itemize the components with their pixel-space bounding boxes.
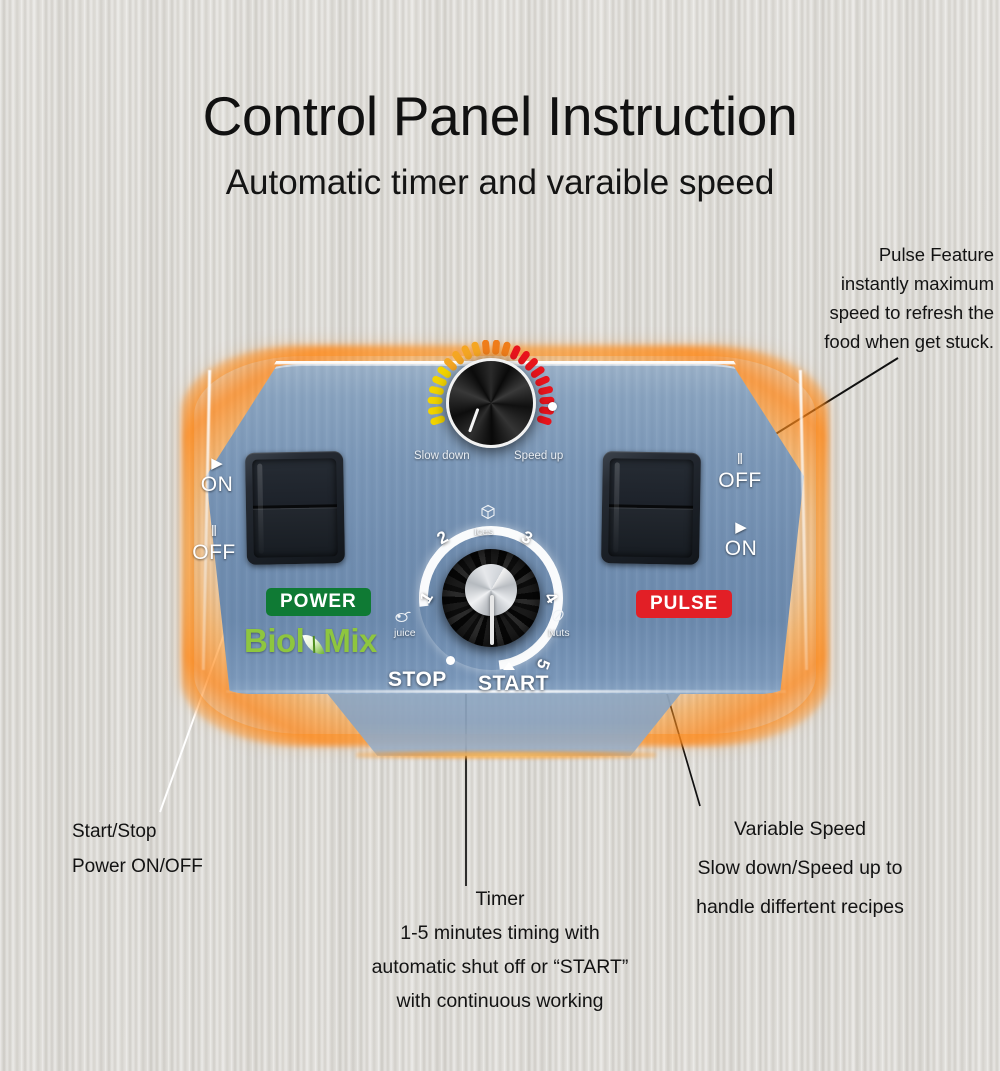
switch-label-text: OFF bbox=[708, 470, 772, 491]
speed-arc-tick bbox=[434, 419, 442, 421]
speed-arc-tick bbox=[441, 370, 448, 375]
speed-arc-tick bbox=[529, 362, 535, 368]
switch-label-left-on: ▶ ON bbox=[188, 456, 246, 495]
play-icon: ▶ bbox=[712, 520, 770, 535]
power-badge: POWER bbox=[266, 588, 371, 616]
pulse-rocker-switch[interactable] bbox=[601, 451, 701, 565]
juicer-icon bbox=[394, 608, 412, 629]
callout-heading: Variable Speed bbox=[734, 818, 866, 840]
speed-arc-tick bbox=[436, 379, 443, 382]
knob-pointer bbox=[468, 408, 479, 433]
timer-icon-label-nuts: Nuts bbox=[548, 627, 570, 639]
callout-line: Pulse Feature bbox=[776, 240, 994, 269]
rocker-paddle[interactable] bbox=[252, 458, 338, 557]
variable-speed-dial[interactable]: Slow down Speed up bbox=[406, 340, 574, 480]
speed-arc-tick bbox=[486, 343, 487, 351]
switch-label-text: OFF bbox=[182, 542, 246, 563]
speed-arc-tick bbox=[539, 379, 546, 382]
brand-suffix: Mix bbox=[323, 622, 377, 659]
switch-label-text: ON bbox=[188, 474, 246, 495]
play-icon: ▶ bbox=[188, 456, 246, 471]
speed-arc-tick bbox=[432, 410, 440, 411]
page-subtitle: Automatic timer and varaible speed bbox=[0, 163, 1000, 203]
speed-arc-tick bbox=[541, 419, 549, 421]
callout-start-stop: Start/Stop Power ON/OFF bbox=[72, 814, 203, 884]
callout-line: instantly maximum bbox=[776, 269, 994, 298]
timer-stop-label: STOP bbox=[388, 668, 447, 692]
timer-needle bbox=[490, 595, 494, 645]
speed-arc-tick bbox=[514, 349, 517, 356]
switch-label-text: ON bbox=[712, 538, 770, 559]
callout-variable-speed: Variable Speed Slow down/Speed up to han… bbox=[640, 810, 960, 927]
base-glow-bottom bbox=[356, 751, 656, 759]
nut-icon bbox=[550, 608, 566, 629]
switch-label-left-off: ‖ OFF bbox=[182, 524, 246, 563]
timer-dial[interactable]: 1 2 3 4 5 Ices juice Nuts STO bbox=[398, 510, 584, 696]
timer-icon-label-juice: juice bbox=[394, 627, 416, 639]
speed-arc-tick bbox=[496, 343, 497, 351]
power-rocker-switch[interactable] bbox=[245, 451, 345, 565]
control-panel-illustration: ▶ ON ‖ OFF ‖ OFF ▶ ON POWER PULSE BiolMi… bbox=[160, 330, 850, 770]
speed-arc-tick bbox=[534, 370, 541, 375]
leaf-icon bbox=[303, 631, 325, 657]
callout-line: Start/Stop bbox=[72, 814, 203, 849]
timer-icon-label-ices: Ices bbox=[474, 526, 493, 538]
speed-arc-tick bbox=[505, 345, 507, 353]
speed-arc-tick bbox=[448, 362, 454, 368]
callout-line: Slow down/Speed up to bbox=[640, 849, 960, 888]
brand-logo: BiolMix bbox=[244, 624, 377, 657]
speed-arc-tick bbox=[433, 390, 441, 392]
speed-arc-tick bbox=[465, 349, 468, 356]
speed-arc-tick bbox=[522, 355, 527, 361]
ice-cube-icon bbox=[480, 504, 496, 525]
speed-label-slow: Slow down bbox=[414, 450, 470, 462]
callout-line: with continuous working bbox=[280, 984, 720, 1018]
callout-line: Power ON/OFF bbox=[72, 849, 203, 884]
speed-knob[interactable] bbox=[446, 358, 536, 448]
brand-prefix: Biol bbox=[244, 622, 304, 659]
speed-label-fast: Speed up bbox=[514, 450, 563, 462]
callout-line: speed to refresh the bbox=[776, 298, 994, 327]
pulse-badge: PULSE bbox=[636, 590, 732, 618]
rocker-paddle[interactable] bbox=[608, 458, 694, 557]
pause-icon: ‖ bbox=[708, 452, 772, 467]
speed-arc-tick bbox=[542, 390, 550, 392]
speed-callout-dot bbox=[548, 402, 557, 411]
timer-callout-dot bbox=[446, 656, 455, 665]
page-title: Control Panel Instruction bbox=[0, 84, 1000, 148]
timer-start-label: START bbox=[478, 672, 549, 696]
speed-arc-tick bbox=[475, 345, 477, 353]
speed-arc-tick bbox=[456, 355, 461, 361]
pause-icon: ‖ bbox=[182, 524, 246, 539]
callout-line: handle differtent recipes bbox=[640, 888, 960, 927]
timer-knob[interactable] bbox=[442, 549, 540, 647]
switch-label-right-on: ▶ ON bbox=[712, 520, 770, 559]
callout-line: automatic shut off or “START” bbox=[280, 950, 720, 984]
timer-start-arrow-icon bbox=[503, 662, 515, 670]
timer-number-5: 5 bbox=[532, 656, 554, 672]
switch-label-right-off: ‖ OFF bbox=[708, 452, 772, 491]
